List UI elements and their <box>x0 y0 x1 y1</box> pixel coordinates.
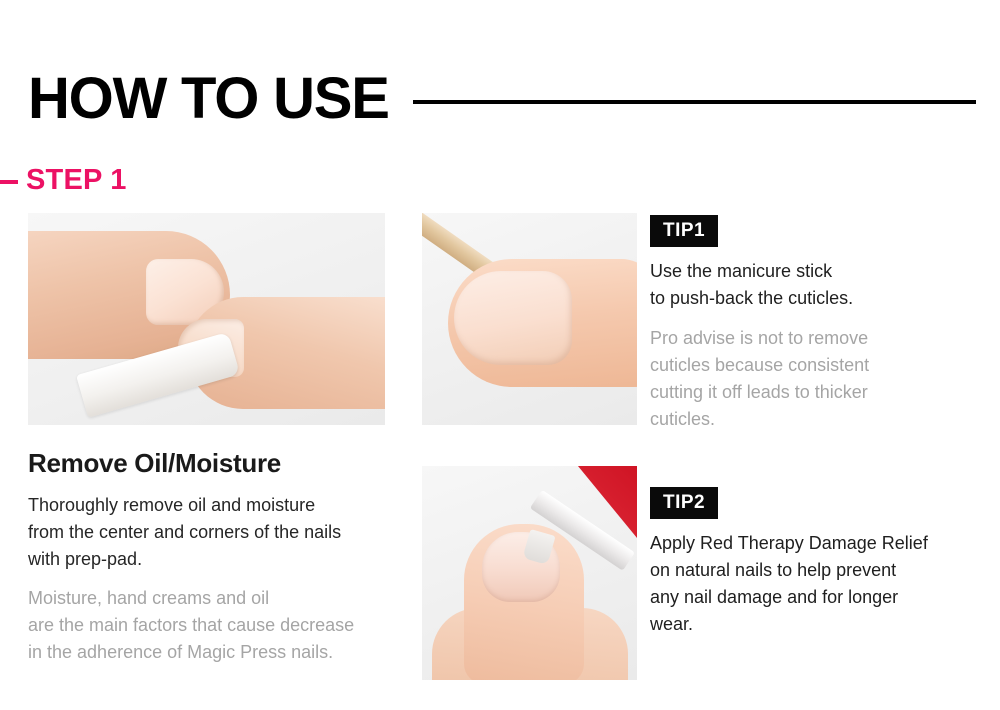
tip1-sub-line: Pro advise is not to remove <box>650 325 990 352</box>
treatment-photo <box>422 466 637 680</box>
fingertip-nail-shape <box>454 271 572 365</box>
left-note-line: in the adherence of Magic Press nails. <box>28 639 428 666</box>
page-header: HOW TO USE <box>28 68 976 130</box>
tip2-main-line: on natural nails to help prevent <box>650 557 990 584</box>
left-note-line: Moisture, hand creams and oil <box>28 585 428 612</box>
left-note-line: are the main factors that cause decrease <box>28 612 428 639</box>
step-label-row: STEP 1 <box>0 163 127 197</box>
left-copy-block: Remove Oil/Moisture Thoroughly remove oi… <box>28 447 428 666</box>
tip2-block: TIP2 Apply Red Therapy Damage Relief on … <box>650 487 990 638</box>
tips-column: TIP1 Use the manicure stick to push-back… <box>650 215 990 433</box>
tip2-main-line: wear. <box>650 611 990 638</box>
cuticle-push-photo <box>422 213 637 425</box>
left-body-line: from the center and corners of the nails <box>28 519 428 546</box>
how-to-use-page: HOW TO USE STEP 1 Remove Oil/Moisture <box>0 0 1000 710</box>
tip1-sub-line: cutting it off leads to thicker <box>650 379 990 406</box>
tip1-sub-text: Pro advise is not to remove cuticles bec… <box>650 325 990 433</box>
tip1-sub-line: cuticles. <box>650 406 990 433</box>
left-note-text: Moisture, hand creams and oil are the ma… <box>28 585 428 666</box>
tip1-main-line: to push-back the cuticles. <box>650 285 990 312</box>
prep-pad-photo <box>28 213 385 425</box>
tip1-main-line: Use the manicure stick <box>650 258 990 285</box>
tip2-badge: TIP2 <box>650 487 718 519</box>
step-dash-icon <box>0 180 18 184</box>
tip1-block: TIP1 Use the manicure stick to push-back… <box>650 215 990 433</box>
step-label: STEP 1 <box>26 163 127 197</box>
tip2-main-text: Apply Red Therapy Damage Relief on natur… <box>650 530 990 638</box>
tip1-main-text: Use the manicure stick to push-back the … <box>650 258 990 312</box>
tip1-sub-line: cuticles because consistent <box>650 352 990 379</box>
page-title: HOW TO USE <box>28 68 389 130</box>
left-body-line: with prep-pad. <box>28 546 428 573</box>
tip1-badge: TIP1 <box>650 215 718 247</box>
left-heading: Remove Oil/Moisture <box>28 447 428 479</box>
tip2-main-line: Apply Red Therapy Damage Relief <box>650 530 990 557</box>
left-body-line: Thoroughly remove oil and moisture <box>28 492 428 519</box>
left-body-text: Thoroughly remove oil and moisture from … <box>28 492 428 573</box>
tip2-main-line: any nail damage and for longer <box>650 584 990 611</box>
title-divider-rule <box>413 100 976 104</box>
